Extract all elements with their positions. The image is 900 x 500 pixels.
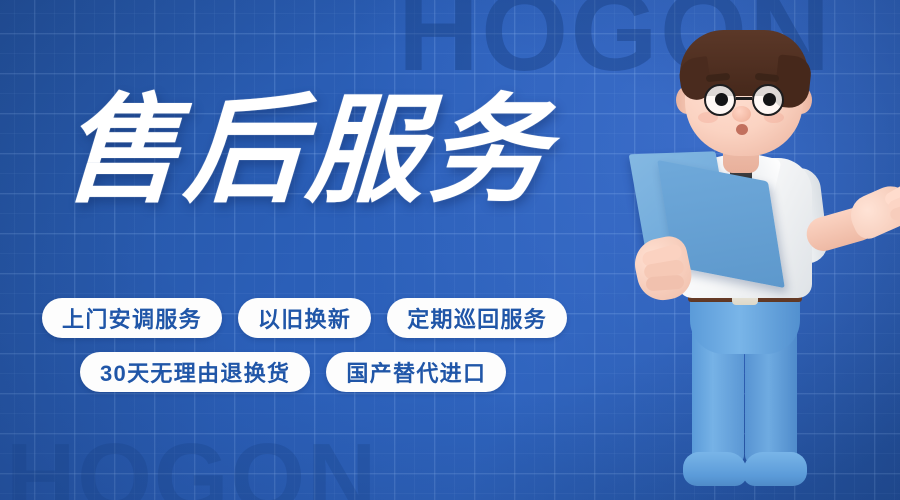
page-title: 售后服务 xyxy=(59,88,554,215)
service-tag-trade-in[interactable]: 以旧换新 xyxy=(238,298,371,338)
mouth xyxy=(736,124,748,135)
service-tag-list: 上门安调服务 以旧换新 定期巡回服务 30天无理由退换货 国产替代进口 xyxy=(0,298,660,406)
service-tag-row-1: 上门安调服务 以旧换新 定期巡回服务 xyxy=(0,298,660,338)
service-tag-30day-return[interactable]: 30天无理由退换货 xyxy=(80,352,310,392)
service-tag-domestic-substitute[interactable]: 国产替代进口 xyxy=(326,352,506,392)
watermark-bottom: HOGON xyxy=(6,430,378,500)
after-sales-service-banner: HOGON HOGON xyxy=(0,0,900,500)
nose xyxy=(732,106,751,122)
finger-left-3 xyxy=(646,275,685,292)
pupil-left xyxy=(715,93,728,106)
shoe-left xyxy=(683,452,747,486)
glasses-bridge xyxy=(736,97,752,100)
service-tag-onsite-install[interactable]: 上门安调服务 xyxy=(42,298,222,338)
character-illustration xyxy=(612,0,900,500)
service-tag-regular-inspection[interactable]: 定期巡回服务 xyxy=(387,298,567,338)
pupil-right xyxy=(763,93,776,106)
service-tag-row-2: 30天无理由退换货 国产替代进口 xyxy=(0,352,660,392)
shoe-right xyxy=(743,452,807,486)
